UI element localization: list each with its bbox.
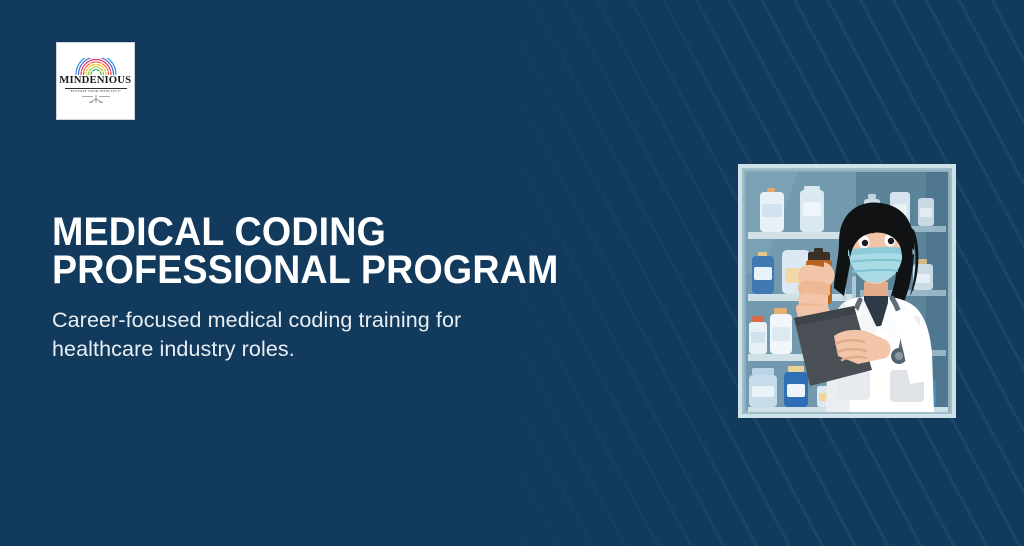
brain-stem-icon: [81, 95, 111, 104]
logo-wordmark: MINDENIOUS: [60, 76, 132, 87]
pharmacist-illustration: [738, 164, 956, 418]
brain-icon: [73, 58, 119, 75]
logo-tagline: "ELEVATE YOUR INTELLECT": [69, 90, 122, 93]
banner: MINDENIOUS "ELEVATE YOUR INTELLECT" MEDI…: [0, 0, 1024, 546]
page-subtitle: Career-focused medical coding training f…: [52, 306, 552, 364]
logo-mindenious[interactable]: MINDENIOUS "ELEVATE YOUR INTELLECT": [56, 42, 135, 120]
page-title: MEDICAL CODING PROFESSIONAL PROGRAM: [52, 213, 616, 289]
pharmacist-scene: [738, 164, 956, 418]
hero-copy: MEDICAL CODING PROFESSIONAL PROGRAM Care…: [52, 213, 652, 364]
